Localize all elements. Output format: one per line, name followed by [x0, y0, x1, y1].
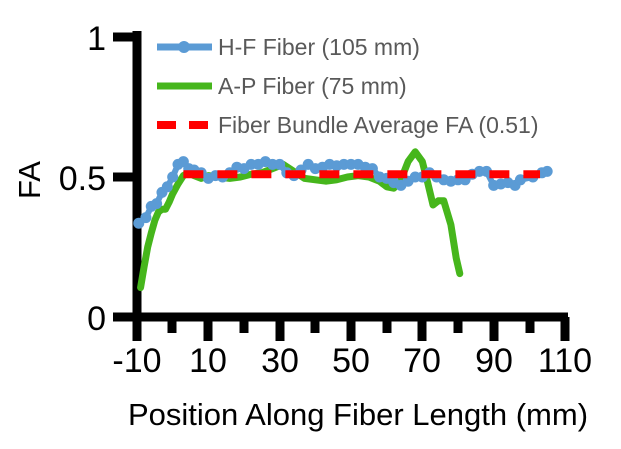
- chart-background: [0, 0, 621, 449]
- legend-label-hf-fiber: H-F Fiber (105 mm): [218, 34, 420, 60]
- fa-vs-position-line-chart: 1 0.5 0 FA -10 10 30: [0, 0, 621, 449]
- legend-label-average-fa: Fiber Bundle Average FA (0.51): [218, 112, 539, 138]
- series-marker: [140, 212, 151, 223]
- series-marker: [542, 166, 553, 177]
- y-tick-label-1: 1: [87, 20, 106, 58]
- x-tick-label-110: 110: [538, 342, 592, 380]
- x-tick-label-10: 10: [189, 342, 227, 380]
- series-marker: [274, 159, 285, 170]
- x-tick-label-90: 90: [475, 342, 513, 380]
- y-tick-label-0: 0: [87, 300, 106, 338]
- series-marker: [167, 172, 178, 183]
- x-tick-label--10: -10: [112, 342, 161, 380]
- chart-figure: 1 0.5 0 FA -10 10 30: [0, 0, 621, 449]
- x-tick-label-30: 30: [261, 342, 299, 380]
- series-marker: [151, 198, 162, 209]
- x-tick-label-50: 50: [332, 342, 370, 380]
- legend-swatch-marker-blue: [178, 41, 190, 53]
- series-marker: [162, 181, 173, 192]
- legend-label-ap-fiber: A-P Fiber (75 mm): [218, 73, 407, 99]
- x-axis-title: Position Along Fiber Length (mm): [128, 397, 588, 432]
- y-axis-title: FA: [12, 161, 47, 199]
- y-tick-label-0p5: 0.5: [59, 160, 106, 198]
- x-tick-label-70: 70: [403, 342, 441, 380]
